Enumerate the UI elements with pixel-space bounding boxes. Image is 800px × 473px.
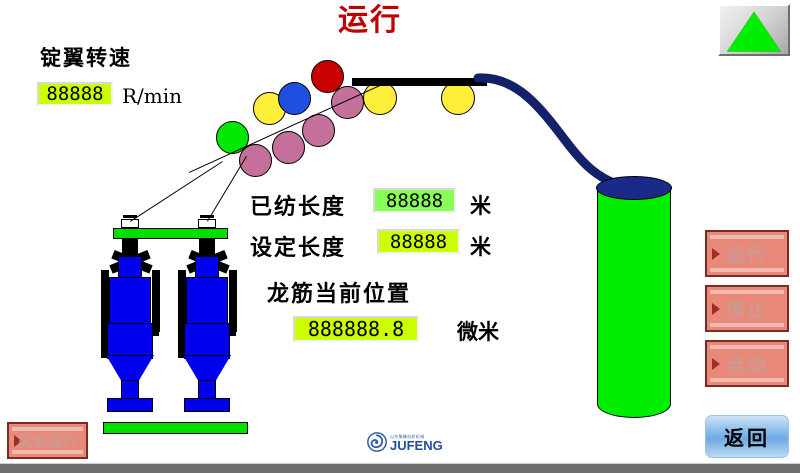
fan-run-button-label: 风机运行 — [9, 430, 86, 451]
rib-position-value[interactable]: 888888.8 — [293, 316, 419, 342]
ball-yellow-2 — [363, 81, 397, 115]
jog-button-label: 点动 — [707, 350, 787, 377]
flyer-speed-unit: R/min — [122, 84, 182, 108]
ball-pink-4 — [331, 86, 364, 119]
up-arrow-button[interactable] — [718, 4, 790, 56]
flyer-speed-label: 锭翼转速 — [40, 42, 132, 72]
spun-length-value[interactable]: 88888 — [373, 188, 456, 213]
package-body — [597, 190, 671, 404]
status-bar — [0, 463, 800, 473]
spun-length-label: 已纺长度 — [250, 189, 346, 221]
spindle-cap-right-top — [200, 215, 214, 218]
hmi-screen: 运行 锭翼转速 88888 R/min — [0, 0, 800, 473]
jufeng-swirl-icon — [367, 432, 387, 452]
rib-position-unit: 微米 — [457, 316, 499, 346]
company-logo: 山东聚峰纺织机械 JUFENG — [367, 432, 443, 452]
run-button-label: 运行 — [707, 240, 787, 267]
set-length-unit: 米 — [470, 231, 491, 261]
ball-pink-2 — [272, 131, 305, 164]
jog-button[interactable]: 点动 — [705, 340, 789, 387]
set-length-label: 设定长度 — [250, 230, 346, 262]
lower-rail — [103, 422, 248, 434]
rib-position-label: 龙筋当前位置 — [267, 276, 411, 308]
spun-length-unit: 米 — [470, 190, 491, 220]
green-triangle-up-icon — [727, 12, 781, 52]
top-rail-bar — [352, 78, 487, 86]
back-button[interactable]: 返回 — [705, 415, 789, 458]
back-button-label: 返回 — [724, 422, 770, 451]
fan-run-button[interactable]: 风机运行 — [7, 422, 88, 459]
stop-button[interactable]: 停止 — [705, 285, 789, 332]
page-title: 运行 — [338, 2, 402, 40]
flyer-speed-value[interactable]: 88888 — [37, 82, 113, 106]
yarn-guide-left — [130, 161, 223, 222]
logo-en-text: JUFENG — [390, 439, 443, 452]
stop-button-label: 停止 — [707, 295, 787, 322]
ball-blue — [278, 82, 311, 115]
package-top — [596, 176, 672, 200]
upper-rail — [113, 228, 228, 239]
run-button[interactable]: 运行 — [705, 230, 789, 277]
set-length-value[interactable]: 88888 — [377, 229, 460, 254]
